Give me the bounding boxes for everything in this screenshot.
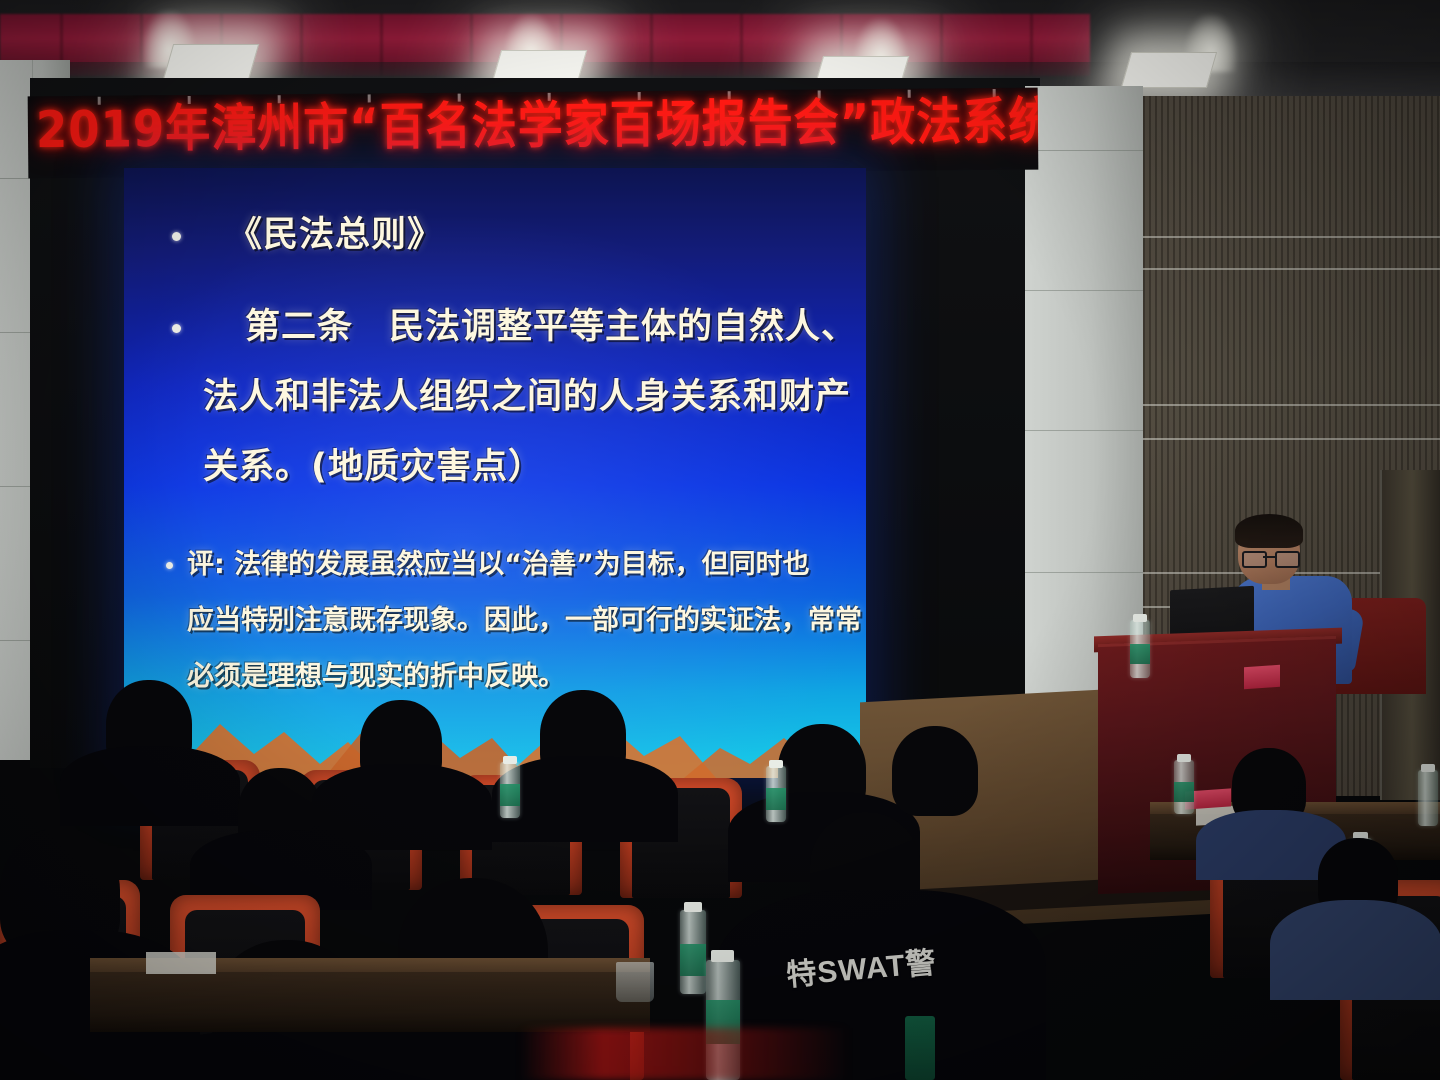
drinking-cup	[616, 962, 654, 1002]
slide-bullet-3-line-2: 应当特别注意既存现象。因此，一部可行的实证法，常常	[187, 604, 862, 638]
banner-title-text: 2019年漳州市“百名法学家百场报告会”政法系统专场	[36, 88, 1037, 164]
podium-name-card	[1244, 665, 1280, 690]
bullet-dot-icon	[172, 324, 181, 333]
slide-bullet-3-line-1: 评: 法律的发展虽然应当以“治善”为目标，但同时也	[187, 548, 862, 582]
slide-bullet-2: 第二条 民法调整平等主体的自然人、 法人和非法人组织之间的人身关系和财产 关系。…	[172, 306, 857, 488]
bottle-label	[680, 944, 706, 976]
ceiling-lamp-4	[1121, 52, 1217, 88]
bottom-red-banner-glow	[520, 1028, 850, 1080]
bottle-cap	[769, 760, 783, 768]
auditorium-photo: 2019年漳州市“百名法学家百场报告会”政法系统专场 《民法总则》 第二条 民法…	[0, 0, 1440, 1080]
slide-bullet-1: 《民法总则》	[172, 214, 443, 256]
wood-trim-2	[1143, 268, 1440, 270]
bottle-label	[500, 784, 520, 806]
speaker-glasses-icon	[1242, 551, 1296, 564]
slide-bullet-3: 评: 法律的发展虽然应当以“治善”为目标，但同时也 应当特别注意既存现象。因此，…	[166, 548, 862, 694]
slide-bullet-3-line-3: 必须是理想与现实的折中反映。	[187, 660, 862, 694]
slide-bullet-2-line-3: 关系。(地质灾害点）	[203, 446, 857, 488]
wood-trim-3	[1143, 404, 1440, 406]
desk-paper	[146, 952, 216, 974]
wood-trim-4	[1143, 438, 1440, 440]
speaker-hair	[1235, 514, 1303, 548]
slide-bullet-2-line-2: 法人和非法人组织之间的人身关系和财产	[203, 376, 857, 418]
bottle-label	[1174, 782, 1194, 802]
audience-shoulders	[1270, 900, 1440, 1000]
bottle-label	[1130, 644, 1150, 664]
bullet-dot-icon	[172, 232, 181, 241]
slide-content: 《民法总则》 第二条 民法调整平等主体的自然人、 法人和非法人组织之间的人身关系…	[124, 168, 866, 778]
bottle-cap	[1421, 764, 1435, 772]
led-banner-board: 2019年漳州市“百名法学家百场报告会”政法系统专场	[28, 88, 1039, 179]
bottle-cap	[711, 950, 734, 962]
audience-head	[892, 726, 978, 816]
slide-bullet-1-line-1: 《民法总则》	[227, 214, 443, 256]
bottle-cap	[1133, 614, 1147, 622]
bottle-cap	[503, 756, 517, 764]
bottle-cap	[684, 902, 702, 912]
wood-trim-1	[1143, 236, 1440, 238]
projection-screen: 《民法总则》 第二条 民法调整平等主体的自然人、 法人和非法人组织之间的人身关系…	[124, 168, 866, 778]
bullet-dot-icon	[166, 562, 173, 569]
ceiling-lamp-1	[163, 44, 259, 80]
audience-shoulders	[60, 746, 240, 826]
water-bottle	[1418, 770, 1438, 826]
audience-shoulders	[312, 764, 492, 850]
water-bottle	[905, 1016, 935, 1080]
slide-bullet-2-line-1: 第二条 民法调整平等主体的自然人、	[203, 306, 857, 348]
audience-desk	[90, 972, 650, 1032]
bottle-label	[766, 788, 786, 810]
bottle-cap	[1177, 754, 1191, 762]
